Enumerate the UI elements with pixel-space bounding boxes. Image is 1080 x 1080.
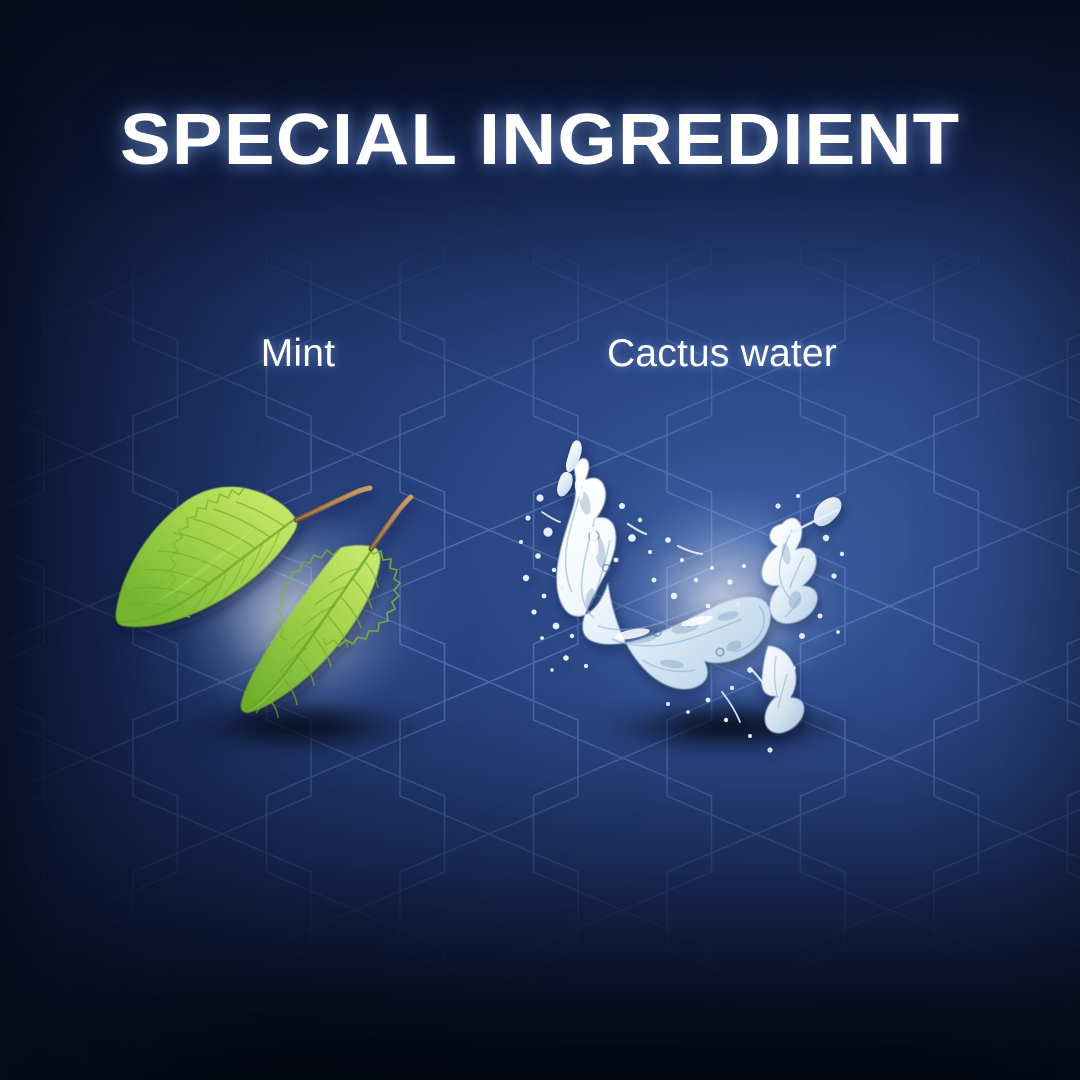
mint-leaf-icon: [58, 420, 538, 760]
ingredient-card-cactus-water: Cactus water: [482, 0, 962, 1080]
ingredient-label-mint: Mint: [58, 332, 538, 377]
water-splash-icon: [482, 420, 962, 760]
ingredient-card-mint: Mint: [58, 0, 538, 1080]
ingredient-label-cactus-water: Cactus water: [482, 332, 962, 377]
ingredient-poster: SPECIAL INGREDIENT Mint: [0, 0, 1080, 1080]
